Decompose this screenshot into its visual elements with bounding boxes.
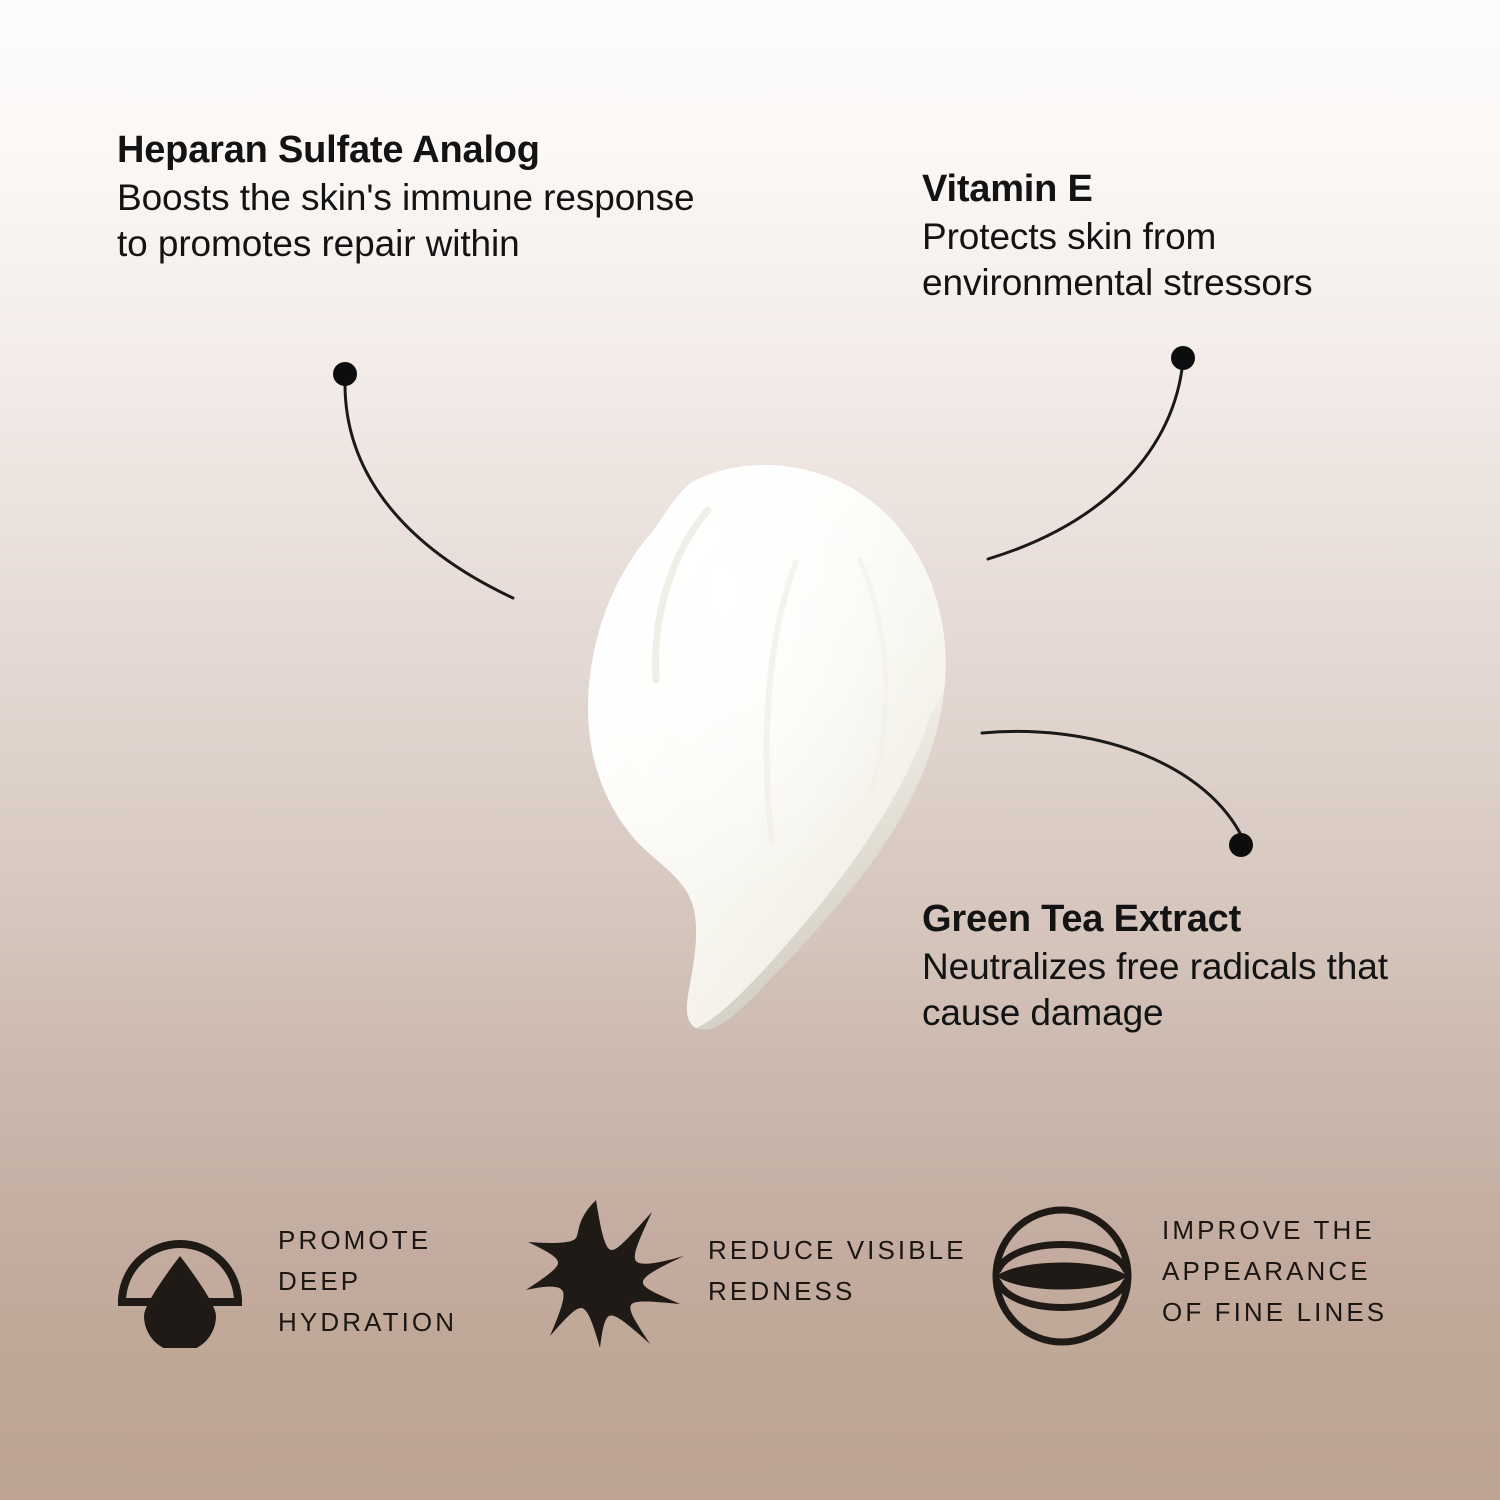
connector-line-green-tea	[982, 731, 1240, 833]
callout-description: Protects skin from environmental stresso…	[922, 214, 1392, 307]
callout-title: Green Tea Extract	[922, 897, 1392, 942]
connector-dot-heparan	[333, 362, 357, 386]
ingredient-infographic: Heparan Sulfate Analog Boosts the skin's…	[0, 0, 1500, 1500]
connector-line-vitamin-e	[988, 369, 1182, 559]
benefit-improve-fine-lines: Improve the appearance of fine lines	[988, 1198, 1458, 1348]
callout-heparan-sulfate-analog: Heparan Sulfate Analog Boosts the skin's…	[117, 128, 697, 268]
connector-line-heparan	[345, 384, 513, 598]
connector-dot-vitamin-e	[1171, 346, 1195, 370]
benefit-label: Promote deep hydration	[278, 1198, 457, 1343]
callout-vitamin-e: Vitamin E Protects skin from environment…	[922, 167, 1392, 307]
starburst-icon	[526, 1198, 686, 1348]
sphere-lines-icon	[988, 1198, 1140, 1348]
benefits-row: Promote deep hydration Reduce visible re…	[0, 1198, 1500, 1378]
benefit-reduce-visible-redness: Reduce visible redness	[526, 1198, 978, 1348]
water-drop-dome-icon	[104, 1198, 256, 1348]
callout-description: Neutralizes free radicals that cause dam…	[922, 944, 1392, 1037]
benefit-label: Improve the appearance of fine lines	[1162, 1198, 1387, 1333]
connector-dot-green-tea	[1229, 833, 1253, 857]
callout-description: Boosts the skin's immune response to pro…	[117, 175, 697, 268]
cream-swatch	[560, 440, 980, 1040]
benefit-promote-deep-hydration: Promote deep hydration	[104, 1198, 512, 1348]
benefit-label: Reduce visible redness	[708, 1198, 967, 1312]
callout-green-tea-extract: Green Tea Extract Neutralizes free radic…	[922, 897, 1392, 1037]
callout-title: Heparan Sulfate Analog	[117, 128, 697, 173]
callout-title: Vitamin E	[922, 167, 1392, 212]
